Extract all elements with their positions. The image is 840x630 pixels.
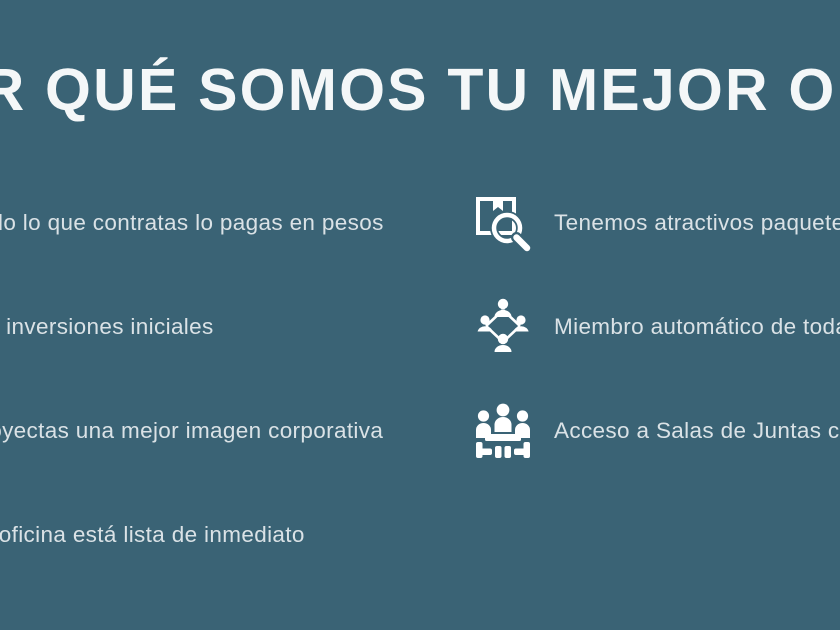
list-item-label: Todo lo que contratas lo pagas en pesos xyxy=(0,209,384,236)
page-title: POR QUÉ SOMOS TU MEJOR OPCIÓN xyxy=(0,52,840,128)
list-item: Miembro automático de toda la red xyxy=(470,274,840,378)
list-item: Todo lo que contratas lo pagas en pesos xyxy=(0,170,302,274)
list-item-label: Miembro automático de toda la red xyxy=(554,313,840,340)
list-item-label: Proyectas una mejor imagen corporativa xyxy=(0,417,383,444)
package-search-icon xyxy=(470,189,536,255)
list-item-label: Tenemos atractivos paquetes xyxy=(554,209,840,236)
list-item: Sin inversiones iniciales xyxy=(0,274,302,378)
slide-canvas: POR QUÉ SOMOS TU MEJOR OPCIÓN Todo lo qu… xyxy=(0,0,840,630)
list-item-label: Acceso a Salas de Juntas con xyxy=(554,417,840,444)
list-item-label: Tu oficina está lista de inmediato xyxy=(0,521,305,548)
network-people-icon xyxy=(470,293,536,359)
list-item: Tenemos atractivos paquetes xyxy=(470,170,840,274)
list-item-label: Sin inversiones iniciales xyxy=(0,313,214,340)
feature-list-right: Tenemos atractivos paquetes xyxy=(470,170,840,482)
list-item: Tu oficina está lista de inmediato xyxy=(0,482,302,586)
list-item: Proyectas una mejor imagen corporativa xyxy=(0,378,302,482)
feature-list-left: Todo lo que contratas lo pagas en pesos … xyxy=(0,170,302,586)
meeting-room-icon xyxy=(470,397,536,463)
list-item: Acceso a Salas de Juntas con xyxy=(470,378,840,482)
page-title-container: POR QUÉ SOMOS TU MEJOR OPCIÓN xyxy=(0,52,840,128)
